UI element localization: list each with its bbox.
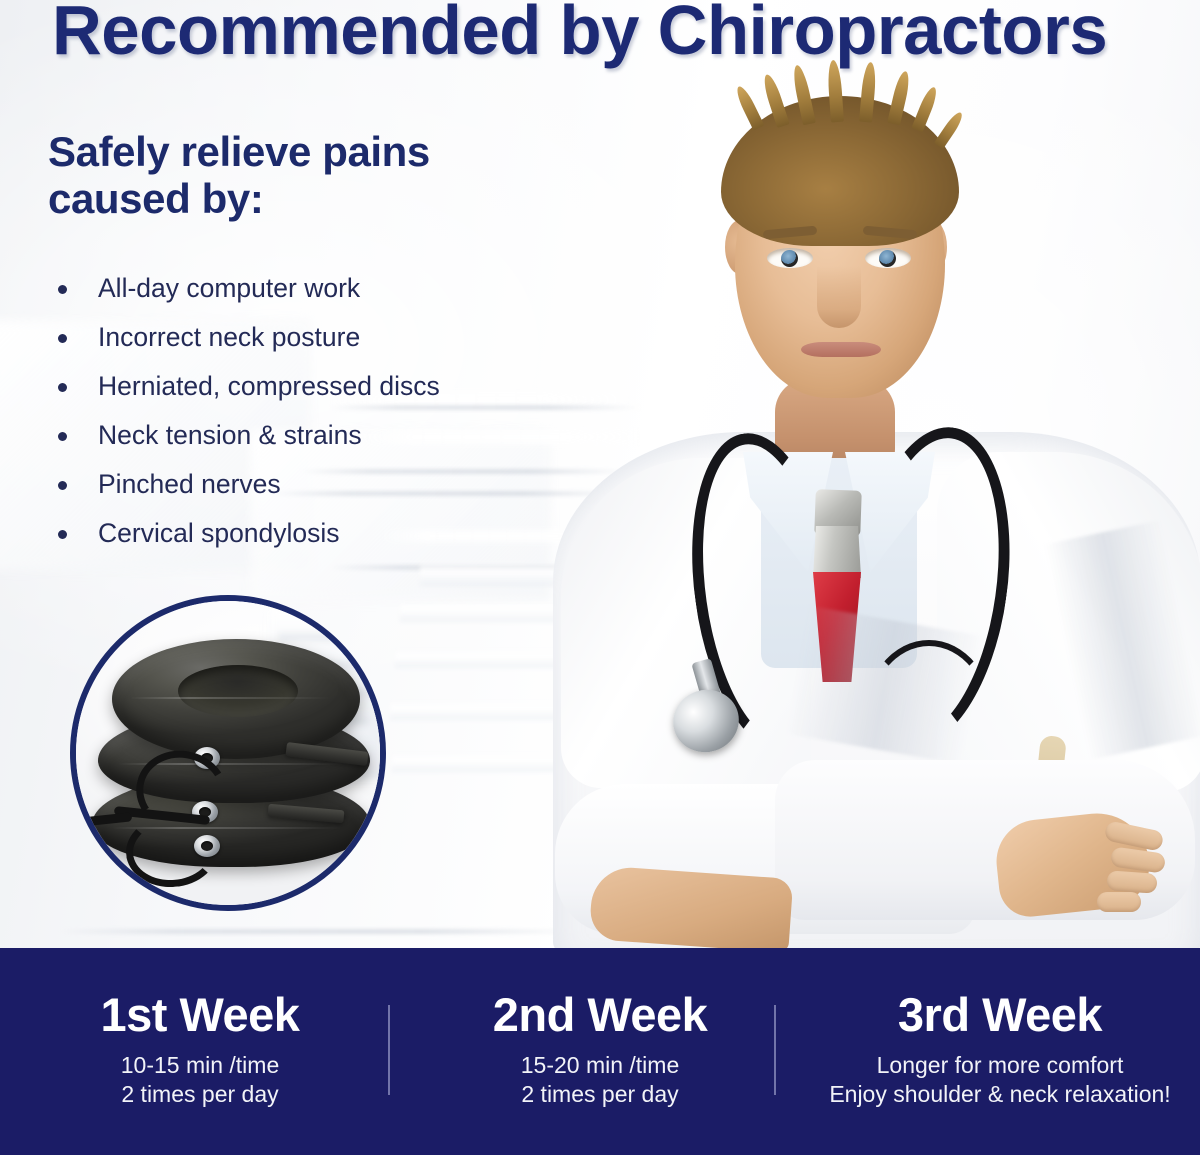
finger bbox=[1106, 870, 1157, 893]
column-divider-1 bbox=[388, 1005, 390, 1095]
hair-spike bbox=[733, 84, 764, 131]
schedule-column-week-2: 2nd Week 15-20 min /time 2 times per day bbox=[400, 948, 800, 1109]
product-infographic: Recommended by Chiropractors Safely reli… bbox=[0, 0, 1200, 1155]
week-details: 15-20 min /time 2 times per day bbox=[400, 1051, 800, 1109]
device-seam bbox=[130, 697, 330, 699]
bullet-dot-icon bbox=[58, 285, 67, 294]
neck-traction-device bbox=[90, 639, 380, 879]
benefits-list: All-day computer work Incorrect neck pos… bbox=[50, 268, 570, 562]
list-item: Pinched nerves bbox=[50, 464, 570, 513]
list-item: Neck tension & strains bbox=[50, 415, 570, 464]
benefit-label: Neck tension & strains bbox=[98, 420, 362, 450]
benefit-label: Incorrect neck posture bbox=[98, 322, 360, 352]
week-details: 10-15 min /time 2 times per day bbox=[0, 1051, 400, 1109]
background-shelf-edge-5 bbox=[60, 930, 580, 933]
mouth bbox=[801, 342, 881, 357]
benefit-label: Cervical spondylosis bbox=[98, 518, 340, 548]
eye-right bbox=[865, 248, 911, 268]
doctor-photo bbox=[545, 60, 1200, 960]
list-item: All-day computer work bbox=[50, 268, 570, 317]
bullet-dot-icon bbox=[58, 334, 67, 343]
week-detail-line: 10-15 min /time bbox=[0, 1051, 400, 1080]
subheading: Safely relieve pains caused by: bbox=[48, 128, 548, 222]
bullet-dot-icon bbox=[58, 383, 67, 392]
finger bbox=[1097, 892, 1141, 912]
schedule-column-week-1: 1st Week 10-15 min /time 2 times per day bbox=[0, 948, 400, 1109]
usage-schedule-banner: 1st Week 10-15 min /time 2 times per day… bbox=[0, 948, 1200, 1155]
page-title: Recommended by Chiropractors bbox=[52, 0, 1155, 67]
week-title: 1st Week bbox=[0, 990, 400, 1039]
nose bbox=[817, 266, 861, 328]
list-item: Cervical spondylosis bbox=[50, 513, 570, 562]
week-detail-line: Longer for more comfort bbox=[800, 1051, 1200, 1080]
week-detail-line: Enjoy shoulder & neck relaxation! bbox=[800, 1080, 1200, 1109]
week-details: Longer for more comfort Enjoy shoulder &… bbox=[800, 1051, 1200, 1109]
list-item: Incorrect neck posture bbox=[50, 317, 570, 366]
bullet-dot-icon bbox=[58, 432, 67, 441]
list-item: Herniated, compressed discs bbox=[50, 366, 570, 415]
eye-left bbox=[767, 248, 813, 268]
hair-spike bbox=[934, 110, 965, 149]
week-title: 2nd Week bbox=[400, 990, 800, 1039]
column-divider-2 bbox=[774, 1005, 776, 1095]
device-layer-top bbox=[112, 639, 360, 759]
benefit-label: All-day computer work bbox=[98, 273, 360, 303]
product-inset-circle bbox=[70, 595, 386, 911]
benefit-label: Pinched nerves bbox=[98, 469, 281, 499]
week-detail-line: 15-20 min /time bbox=[400, 1051, 800, 1080]
forearm-skin bbox=[589, 865, 794, 953]
week-detail-line: 2 times per day bbox=[400, 1080, 800, 1109]
week-title: 3rd Week bbox=[800, 990, 1200, 1039]
bullet-dot-icon bbox=[58, 530, 67, 539]
week-detail-line: 2 times per day bbox=[0, 1080, 400, 1109]
bullet-dot-icon bbox=[58, 481, 67, 490]
schedule-column-week-3: 3rd Week Longer for more comfort Enjoy s… bbox=[800, 948, 1200, 1109]
benefit-label: Herniated, compressed discs bbox=[98, 371, 440, 401]
